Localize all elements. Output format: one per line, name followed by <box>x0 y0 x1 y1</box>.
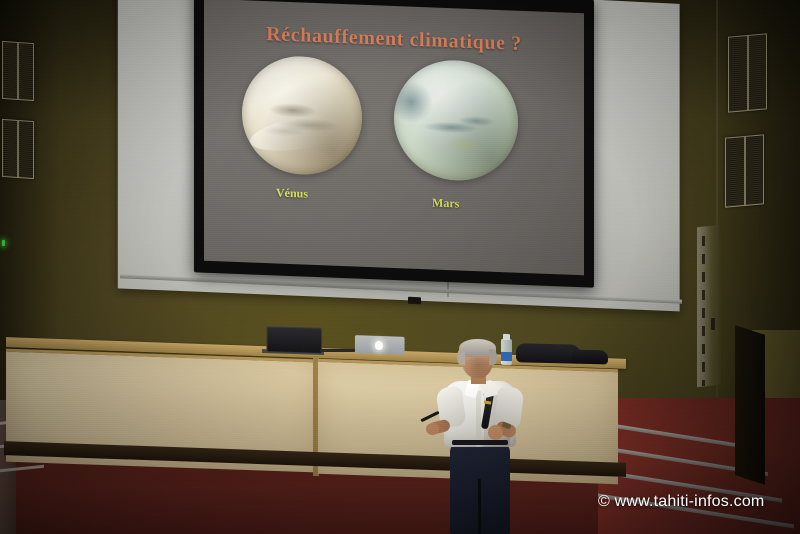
presenter-right-hand <box>488 425 503 440</box>
status-led-indicator <box>2 240 5 246</box>
door-handle <box>711 318 715 330</box>
vent-icon-upper-left <box>2 41 34 101</box>
projected-slide: Réchauffement climatique ? Vénus Mars <box>204 0 584 275</box>
presenter-hair-right <box>489 349 497 365</box>
presenter-leg-seam <box>478 479 481 534</box>
presenter <box>426 339 544 534</box>
presenter-left-hand <box>426 423 439 435</box>
door-frame-seam <box>702 236 705 386</box>
door-edge <box>697 225 721 388</box>
slide-planet-group: Vénus Mars <box>204 47 584 232</box>
presenter-shirt-placket <box>476 391 481 447</box>
black-bag-secondary <box>572 350 608 365</box>
photo-scene: Réchauffement climatique ? Vénus Mars <box>0 0 800 534</box>
planet-label-mars: Mars <box>432 195 459 211</box>
staircase-shadow <box>598 398 800 534</box>
planet-label-venus: Vénus <box>276 185 308 201</box>
whiteboard-clip <box>408 297 421 305</box>
apple-logo-icon <box>375 341 383 350</box>
planet-venus-image <box>242 54 362 177</box>
staircase-side-wall <box>735 325 765 485</box>
dark-laptop <box>266 326 322 354</box>
presenter-hair-left <box>457 349 465 365</box>
vent-icon-lower-right <box>725 134 764 207</box>
vent-icon-lower-left <box>2 119 34 179</box>
projection-screen: Réchauffement climatique ? Vénus Mars <box>194 0 594 288</box>
vent-icon-upper-right <box>728 33 767 112</box>
presenter-belt <box>452 440 508 445</box>
staircase-right <box>598 398 800 534</box>
presenter-face-shading <box>464 357 491 377</box>
silver-macbook <box>355 335 405 355</box>
watermark: © www.tahiti-infos.com <box>598 493 764 511</box>
planet-mars-image <box>394 58 518 183</box>
